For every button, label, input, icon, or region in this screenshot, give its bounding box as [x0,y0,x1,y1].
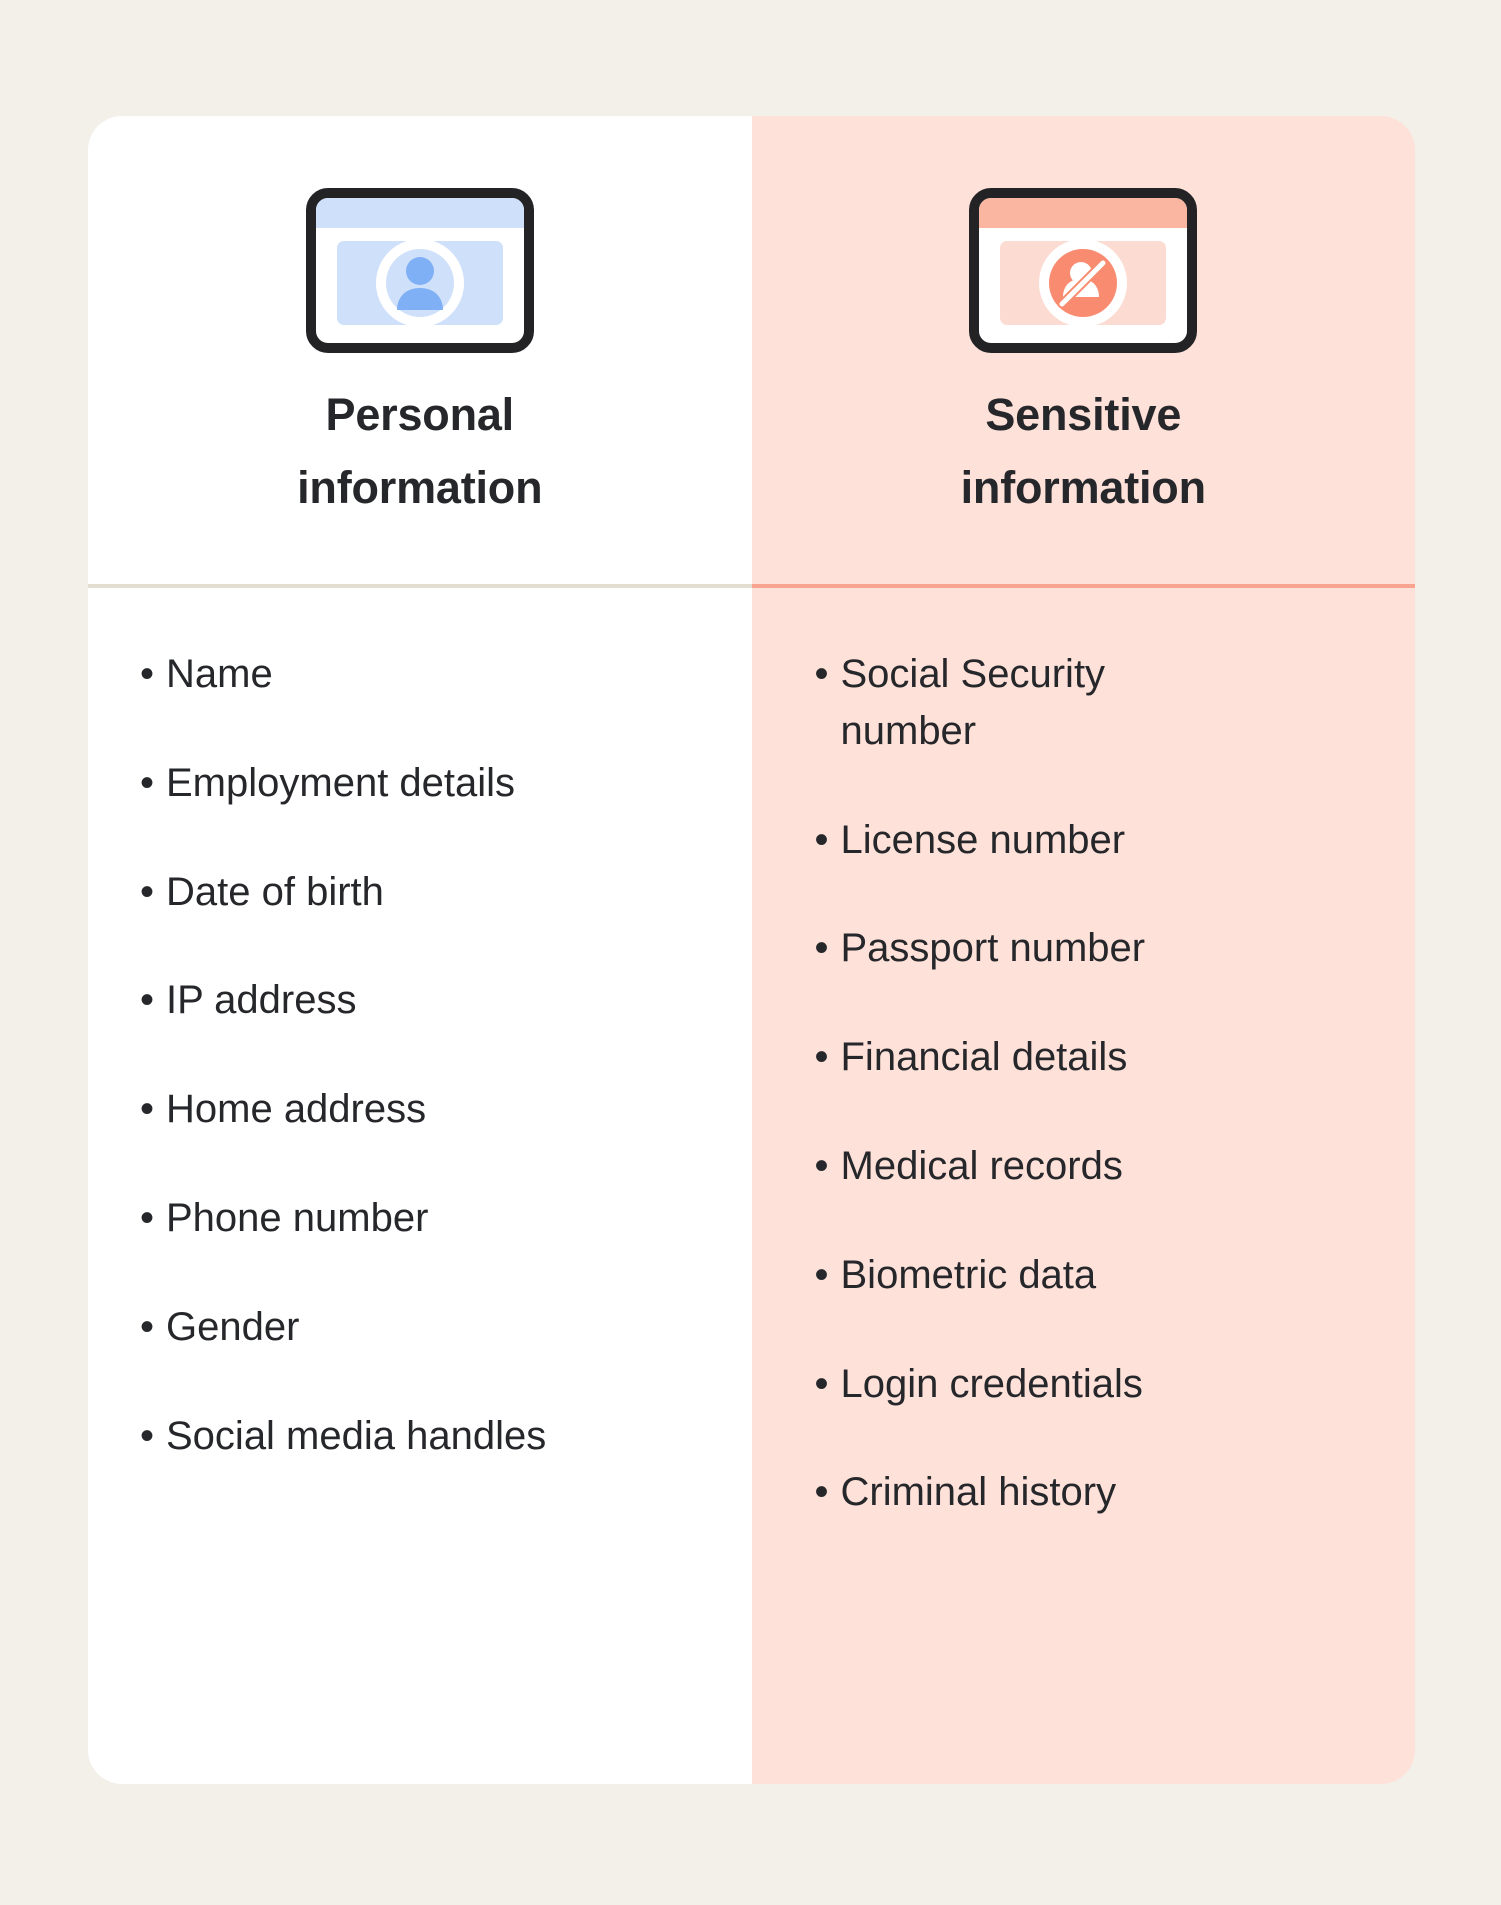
id-card-person-icon [306,188,534,353]
list-item-label: Employment details [166,755,700,812]
list-item: • Date of birth [140,864,700,921]
list-item: • Social media handles [140,1408,700,1465]
list-item-label: Name [166,646,700,703]
personal-column-title: Personal information [255,379,585,525]
list-item-label: License number [841,812,1247,869]
list-item-label: Passport number [841,920,1247,977]
sensitive-column-title: Sensitive information [918,379,1248,525]
bullet-icon: • [815,812,841,869]
list-item-label: Gender [166,1299,700,1356]
list-item: • Gender [140,1299,700,1356]
list-item-label: Medical records [841,1138,1247,1195]
sensitive-info-list: • Social Security number • License numbe… [752,646,1416,1521]
list-item-label: Social media handles [166,1408,700,1465]
list-item: • Home address [140,1081,700,1138]
bullet-icon: • [140,1081,166,1138]
bullet-icon: • [140,1408,166,1465]
list-item-label: Social Security number [841,646,1247,760]
list-item: • License number [815,812,1247,869]
sensitive-column-header: Sensitive information [752,116,1416,584]
list-item: • Phone number [140,1190,700,1247]
infographic-root: Personal information • Name • Employment… [0,0,1501,1905]
list-item-label: Criminal history [841,1464,1247,1521]
bullet-icon: • [140,1190,166,1247]
list-item-label: Date of birth [166,864,700,921]
list-item-label: Home address [166,1081,700,1138]
bullet-icon: • [815,1247,841,1304]
list-item: • Biometric data [815,1247,1247,1304]
bullet-icon: • [815,1464,841,1521]
comparison-card: Personal information • Name • Employment… [88,116,1415,1784]
bullet-icon: • [140,755,166,812]
list-item-label: Login credentials [841,1356,1247,1413]
list-item: • Medical records [815,1138,1247,1195]
list-item: • Financial details [815,1029,1247,1086]
list-item-label: IP address [166,972,700,1029]
personal-info-list: • Name • Employment details • Date of bi… [88,646,752,1464]
list-item: • Social Security number [815,646,1247,760]
bullet-icon: • [815,1029,841,1086]
bullet-icon: • [140,864,166,921]
id-card-person-restricted-icon [969,188,1197,353]
bullet-icon: • [815,920,841,977]
list-item: • Passport number [815,920,1247,977]
column-sensitive-information: Sensitive information • Social Security … [752,116,1416,1784]
list-item-label: Phone number [166,1190,700,1247]
personal-column-header: Personal information [88,116,752,584]
list-item-label: Financial details [841,1029,1247,1086]
bullet-icon: • [815,646,841,703]
list-item: • IP address [140,972,700,1029]
bullet-icon: • [140,646,166,703]
bullet-icon: • [140,1299,166,1356]
list-item: • Employment details [140,755,700,812]
personal-list-container: • Name • Employment details • Date of bi… [88,588,752,1784]
list-item-label: Biometric data [841,1247,1247,1304]
bullet-icon: • [815,1356,841,1413]
list-item: • Name [140,646,700,703]
column-personal-information: Personal information • Name • Employment… [88,116,752,1784]
list-item: • Criminal history [815,1464,1247,1521]
bullet-icon: • [815,1138,841,1195]
bullet-icon: • [140,972,166,1029]
list-item: • Login credentials [815,1356,1247,1413]
sensitive-list-container: • Social Security number • License numbe… [752,588,1416,1784]
